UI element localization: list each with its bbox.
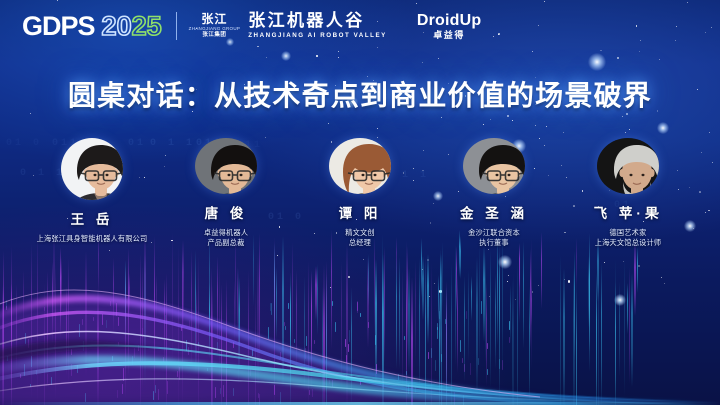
year-logo: 2025 xyxy=(102,11,162,42)
zhangjiang-mark-sub-cn: 张江集团 xyxy=(202,32,226,39)
speaker-name: 唐 俊 xyxy=(205,202,248,222)
avatar-portrait xyxy=(61,138,123,200)
speaker-affiliation-line-1: 金沙江联合资本 xyxy=(468,228,520,238)
avatar-portrait xyxy=(195,138,257,194)
speaker-affiliation: 金沙江联合资本执行董事 xyxy=(468,228,520,248)
speaker-affiliation: 精文文创总经理 xyxy=(345,228,375,248)
logo-divider xyxy=(176,12,177,40)
zhangjiang-mark-cn: 张江 xyxy=(201,13,227,25)
header-bar: GDPS 2025 张江 ZHANGJIANG GROUP 张江集团 张江机器人… xyxy=(0,0,720,52)
speaker-affiliation: 德国艺术家上海天文馆总设计师 xyxy=(595,228,662,248)
speaker-affiliation-line-2: 产品副总裁 xyxy=(204,238,248,248)
speaker-affiliation-line-2: 总经理 xyxy=(345,238,375,248)
speaker-name: 飞 苹·果 xyxy=(594,202,663,222)
speaker-name: 金 圣 涵 xyxy=(460,202,528,222)
speaker-affiliation: 卓益得机器人产品副总裁 xyxy=(204,228,248,248)
speaker-affiliation-line-2: 上海天文馆总设计师 xyxy=(595,238,662,248)
speaker-affiliation-line-2: 执行董事 xyxy=(468,238,520,248)
logo-row: GDPS 2025 张江 ZHANGJIANG GROUP 张江集团 张江机器人… xyxy=(22,8,481,44)
speaker-avatar xyxy=(597,138,659,194)
droidup-sponsor-logo: DroidUp 卓益得 xyxy=(417,12,482,41)
speaker-card: 飞 苹·果德国艺术家上海天文馆总设计师 xyxy=(572,138,684,248)
avatar-portrait xyxy=(597,138,659,194)
speaker-name: 王 岳 xyxy=(71,208,114,228)
speaker-card: 王 岳上海张江具身智能机器人有限公司 xyxy=(36,138,148,248)
speaker-list: 王 岳上海张江具身智能机器人有限公司 xyxy=(0,138,720,248)
gdps-brand-logo: GDPS xyxy=(22,11,95,42)
zhangjiang-mark: 张江 ZHANGJIANG GROUP 张江集团 xyxy=(189,13,241,39)
droidup-name-en: DroidUp xyxy=(417,12,482,29)
speaker-affiliation: 上海张江具身智能机器人有限公司 xyxy=(37,234,148,244)
speaker-card: 唐 俊卓益得机器人产品副总裁 xyxy=(170,138,282,248)
speaker-affiliation-line-1: 德国艺术家 xyxy=(595,228,662,238)
zhangjiang-partner-logo: 张江 ZHANGJIANG GROUP 张江集团 张江机器人谷 ZHANGJIA… xyxy=(189,12,387,40)
avatar-portrait xyxy=(463,138,525,194)
speaker-affiliation-line-1: 卓益得机器人 xyxy=(204,228,248,238)
speaker-avatar xyxy=(329,138,391,194)
zhangjiang-name-en: ZHANGJIANG AI ROBOT VALLEY xyxy=(248,31,387,40)
speaker-affiliation-line-1: 精文文创 xyxy=(345,228,375,238)
avatar-portrait xyxy=(329,138,391,194)
speaker-name: 谭 阳 xyxy=(339,202,382,222)
presentation-slide: GDPS 2025 张江 ZHANGJIANG GROUP 张江集团 张江机器人… xyxy=(0,0,720,405)
speaker-card: 金 圣 涵金沙江联合资本执行董事 xyxy=(438,138,550,248)
speaker-avatar xyxy=(463,138,525,194)
speaker-affiliation-line-1: 上海张江具身智能机器人有限公司 xyxy=(37,234,148,244)
speaker-avatar xyxy=(195,138,257,194)
zhangjiang-name-cn: 张江机器人谷 xyxy=(248,12,387,30)
droidup-name-cn: 卓益得 xyxy=(433,30,465,41)
zhangjiang-name-block: 张江机器人谷 ZHANGJIANG AI ROBOT VALLEY xyxy=(248,12,387,40)
speaker-avatar xyxy=(61,138,123,200)
speaker-card: 谭 阳精文文创总经理 xyxy=(304,138,416,248)
slide-title: 圆桌对话：从技术奇点到商业价值的场景破界 xyxy=(0,74,720,114)
